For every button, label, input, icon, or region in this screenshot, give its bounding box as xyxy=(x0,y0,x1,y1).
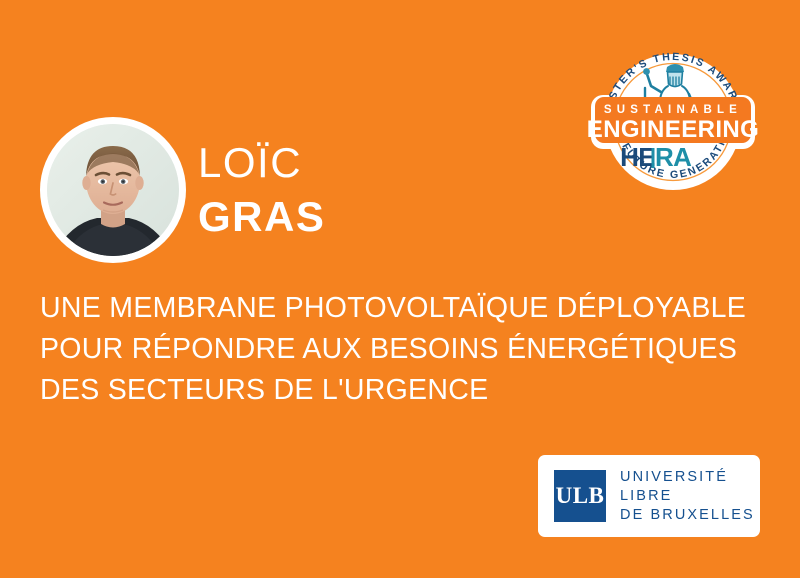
ulb-line-3: DE BRUXELLES xyxy=(620,506,755,525)
hera-wordmark-ra: RA xyxy=(655,142,692,172)
thesis-title: UNE MEMBRANE PHOTOVOLTAÏQUE DÉPLOYABLE P… xyxy=(40,288,746,411)
hera-badge-graphic: MASTER'S THESIS AWARDS FOR FUTURE GENERA… xyxy=(589,42,757,192)
banner-line-sustainable: SUSTAINABLE xyxy=(604,104,742,116)
thesis-title-line-2: POUR RÉPONDRE AUX BESOINS ÉNERGÉTIQUES xyxy=(40,329,746,370)
badge-banner: SUSTAINABLE ENGINEERING xyxy=(587,97,759,143)
ulb-line-2: LIBRE xyxy=(620,487,755,506)
portrait-illustration xyxy=(47,124,179,256)
ulb-wordmark: UNIVERSITÉ LIBRE DE BRUXELLES xyxy=(620,468,755,525)
avatar xyxy=(40,117,186,263)
hera-award-badge: MASTER'S THESIS AWARDS FOR FUTURE GENERA… xyxy=(589,42,757,192)
ulb-mark: ULB xyxy=(554,470,606,522)
banner-line-engineering: ENGINEERING xyxy=(587,116,759,143)
thesis-title-line-1: UNE MEMBRANE PHOTOVOLTAÏQUE DÉPLOYABLE xyxy=(40,288,746,329)
first-name: LOÏC xyxy=(198,142,325,184)
last-name: GRAS xyxy=(198,196,325,238)
ulb-mark-text: ULB xyxy=(556,483,605,509)
thesis-title-line-3: DES SECTEURS DE L'URGENCE xyxy=(40,370,746,411)
ulb-line-1: UNIVERSITÉ xyxy=(620,468,755,487)
hera-wordmark: HE RA xyxy=(620,142,692,172)
hera-wordmark-he: HE xyxy=(620,142,655,172)
portrait-photo xyxy=(47,124,179,256)
person-name: LOÏC GRAS xyxy=(198,142,325,238)
ulb-logo: ULB UNIVERSITÉ LIBRE DE BRUXELLES xyxy=(538,455,760,537)
